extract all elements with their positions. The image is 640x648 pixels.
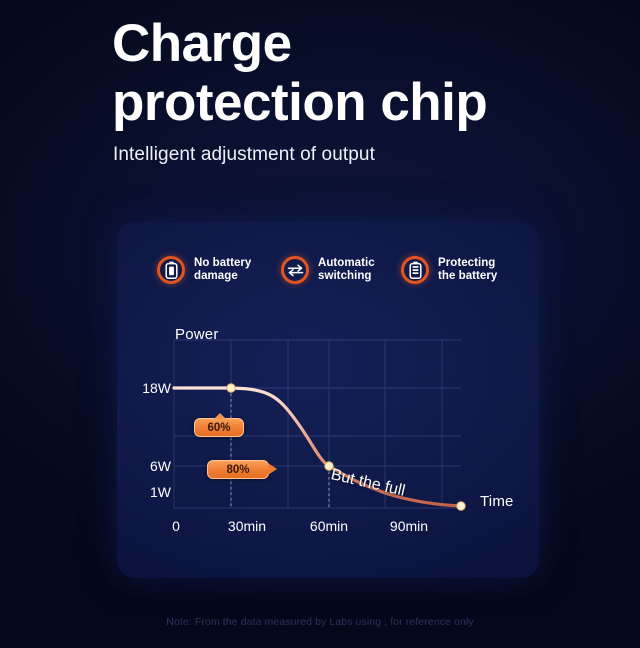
badge-label-line-2: the battery bbox=[438, 270, 497, 282]
charge-protection-infographic: Charge protection chip Intelligent adjus… bbox=[0, 0, 640, 648]
feature-badge-no-battery-damage: No battery damage bbox=[157, 256, 281, 284]
badge-label-line-2: damage bbox=[194, 270, 238, 282]
page-subtitle: Intelligent adjustment of output bbox=[113, 144, 375, 166]
bidirectional-arrows-icon bbox=[281, 256, 309, 284]
chart-plot-area bbox=[117, 318, 539, 568]
power-over-time-chart: Power Time 18W 6W 1W 0 30min 60min 90min bbox=[117, 318, 539, 568]
feature-card: No battery damage Automatic switching bbox=[117, 222, 539, 578]
title-line-2: protection chip bbox=[112, 73, 552, 132]
badge-label-line-2: switching bbox=[318, 270, 371, 282]
feature-badge-label: No battery damage bbox=[194, 257, 251, 284]
battery-level-icon bbox=[401, 256, 429, 284]
chart-curve bbox=[174, 388, 461, 506]
page-title: Charge protection chip bbox=[112, 14, 552, 132]
feature-badge-label: Automatic switching bbox=[318, 257, 375, 284]
badge-label-line-1: Automatic bbox=[318, 257, 375, 269]
badge-label-line-1: Protecting bbox=[438, 257, 495, 269]
chart-callout-60-percent: 60% bbox=[194, 418, 244, 437]
feature-badge-row: No battery damage Automatic switching bbox=[117, 256, 539, 284]
feature-badge-label: Protecting the battery bbox=[438, 257, 497, 284]
title-line-1: Charge bbox=[112, 14, 552, 73]
feature-badge-automatic-switching: Automatic switching bbox=[281, 256, 401, 284]
footer-note: Note: From the data measured by Labs usi… bbox=[0, 616, 640, 628]
badge-label-line-1: No battery bbox=[194, 257, 251, 269]
feature-badge-protecting-the-battery: Protecting the battery bbox=[401, 256, 531, 284]
battery-icon bbox=[157, 256, 185, 284]
chart-callout-80-percent: 80% bbox=[207, 460, 269, 479]
chart-data-markers bbox=[227, 384, 465, 510]
